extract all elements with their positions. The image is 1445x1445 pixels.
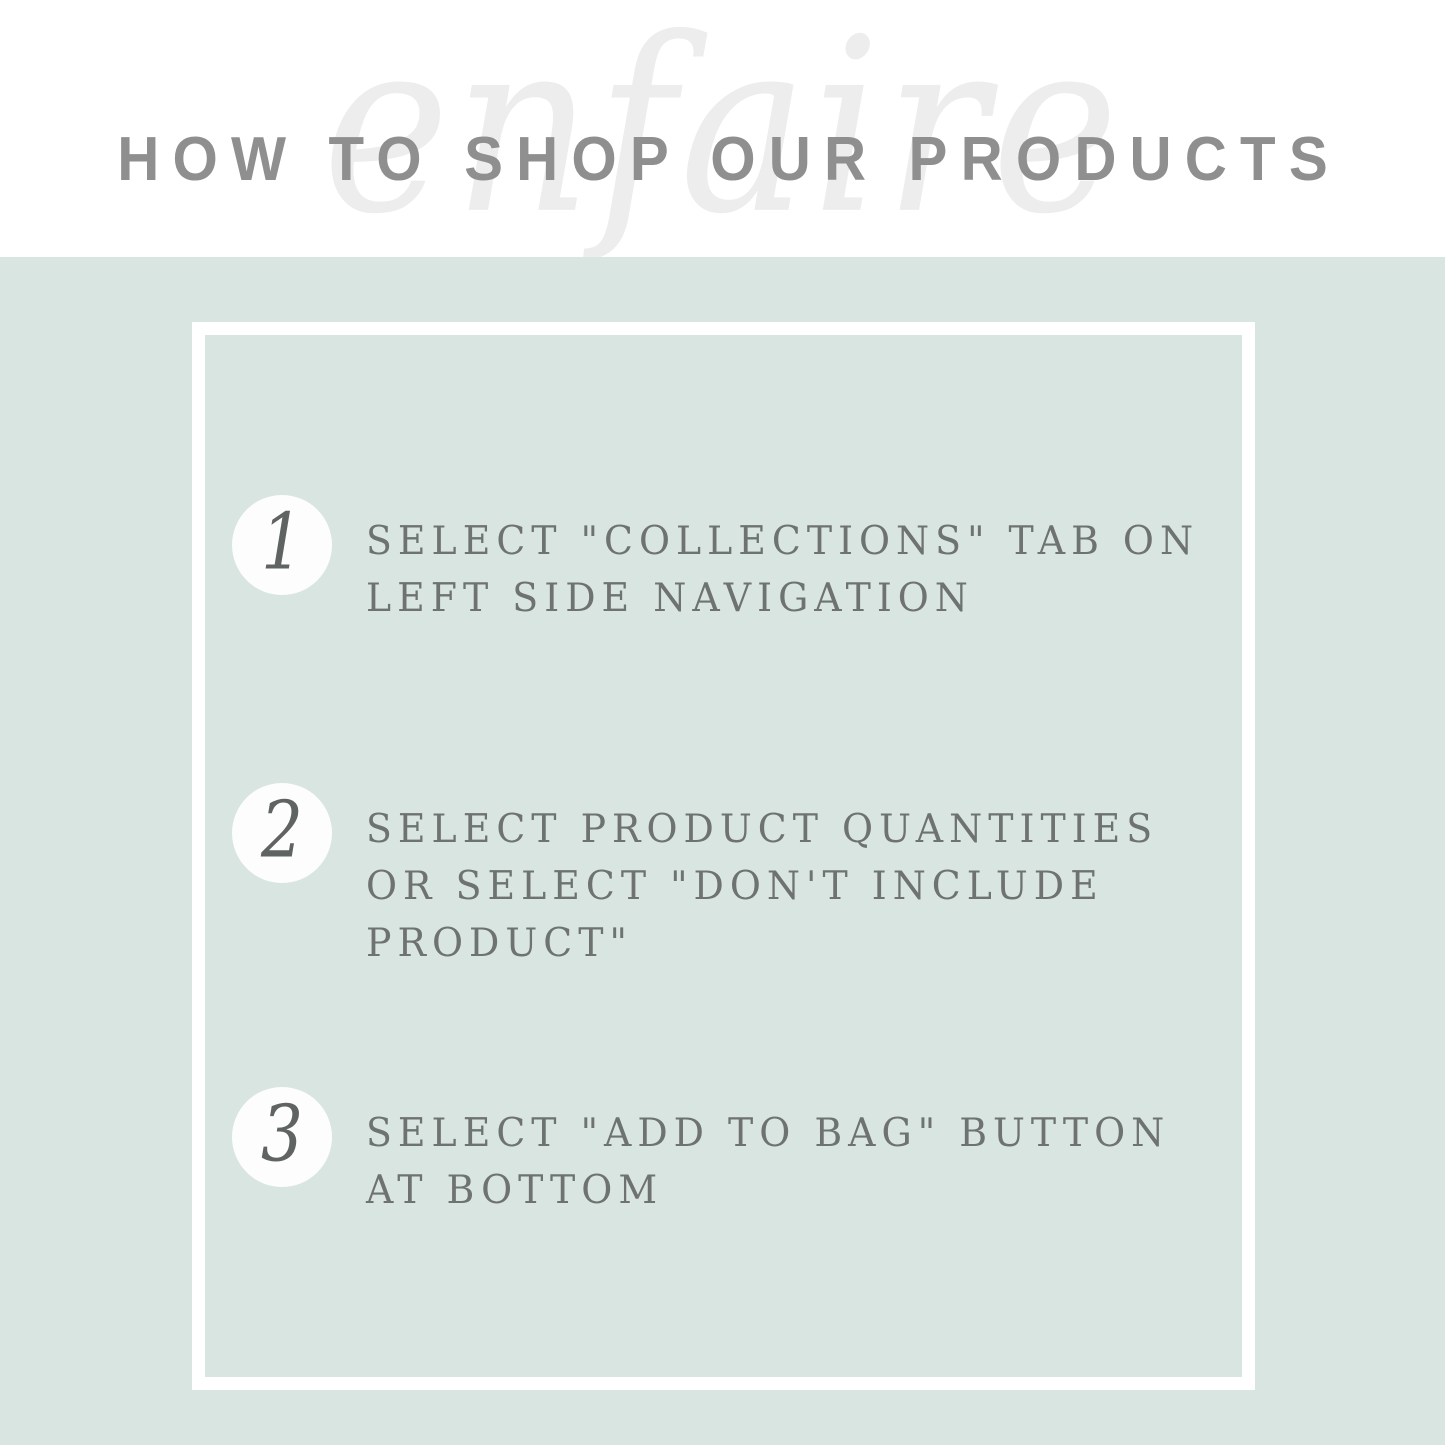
step-number-label: 3 [261, 1096, 303, 1174]
header-band: enfaire HOW TO SHOP OUR PRODUCTS [0, 0, 1445, 257]
step-number-label: 2 [261, 792, 303, 870]
list-item: 3 SELECT "ADD TO BAG" BUTTON AT BOTTOM [232, 1087, 1242, 1219]
step-instruction-text: SELECT PRODUCT QUANTITIES OR SELECT "DON… [366, 783, 1216, 972]
page-title: HOW TO SHOP OUR PRODUCTS [43, 124, 1401, 196]
step-number-label: 1 [261, 504, 303, 582]
step-instruction-text: SELECT "COLLECTIONS" TAB ON LEFT SIDE NA… [366, 495, 1216, 627]
step-number-badge: 1 [232, 495, 332, 595]
step-number-badge: 2 [232, 783, 332, 883]
infographic-canvas: enfaire HOW TO SHOP OUR PRODUCTS 1 SELEC… [0, 0, 1445, 1445]
step-instruction-text: SELECT "ADD TO BAG" BUTTON AT BOTTOM [366, 1087, 1216, 1219]
step-number-badge: 3 [232, 1087, 332, 1187]
list-item: 2 SELECT PRODUCT QUANTITIES OR SELECT "D… [232, 783, 1242, 972]
list-item: 1 SELECT "COLLECTIONS" TAB ON LEFT SIDE … [232, 495, 1242, 627]
